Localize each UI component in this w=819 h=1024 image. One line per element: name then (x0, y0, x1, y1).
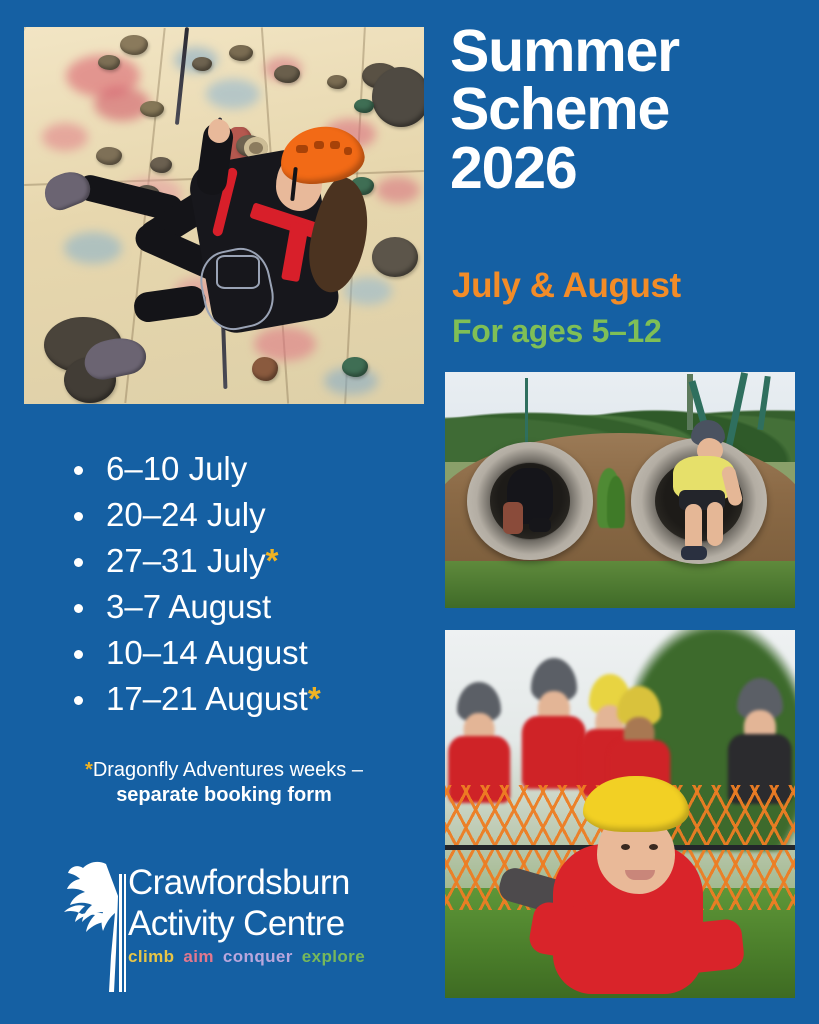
net-crawl-photo (445, 630, 795, 998)
date-label: 17–21 August (106, 680, 308, 717)
wall-paint-blot (64, 232, 122, 264)
helmet-vent (344, 147, 352, 155)
climbing-hold (354, 99, 374, 113)
child-leg (685, 504, 702, 552)
climbing-hold (327, 75, 347, 89)
shrub (607, 476, 625, 528)
background-child (737, 678, 783, 778)
child-eye (621, 844, 630, 850)
climbing-hold (274, 65, 300, 83)
helmet-vent (296, 145, 308, 153)
climbing-hold (252, 357, 278, 381)
page-title: Summer Scheme 2026 (450, 22, 800, 197)
logo-tagline: climbaimconquerexplore (128, 947, 392, 967)
climber-harness-buckle (216, 255, 260, 289)
list-item: 27–31 July* (62, 538, 422, 584)
climbing-hold (140, 101, 164, 117)
list-item: 10–14 August (62, 630, 422, 676)
date-label: 27–31 July (106, 542, 266, 579)
climbing-hold (120, 35, 148, 55)
climbing-hold (372, 67, 424, 127)
child-shoe (529, 518, 551, 532)
climbing-hold (150, 157, 172, 173)
footnote-asterisk: * (85, 759, 93, 781)
child-arm (661, 918, 746, 976)
child-leg (707, 502, 723, 546)
tagline-word-climb: climb (128, 947, 174, 966)
list-item: 20–24 July (62, 492, 422, 538)
footnote-line-1: Dragonfly Adventures weeks – (93, 759, 363, 781)
wall-paint-blot (344, 277, 392, 305)
climbing-hold (372, 237, 418, 277)
headline-line-3: 2026 (450, 139, 800, 197)
wall-paint-blot (376, 177, 420, 203)
tagline-word-explore: explore (302, 947, 365, 966)
list-item: 6–10 July (62, 446, 422, 492)
child-eye (649, 844, 658, 850)
background-child (531, 658, 577, 762)
background-child (617, 686, 661, 782)
fence-pole (525, 378, 528, 448)
dragonfly-asterisk: * (266, 542, 279, 579)
date-label: 6–10 July (106, 450, 247, 487)
logo-line-2: Activity Centre (128, 903, 392, 944)
wall-paint-blot (42, 123, 88, 151)
grass (445, 561, 795, 608)
background-child (457, 682, 501, 778)
logo-line-1: Crawfordsburn (128, 862, 392, 903)
child-shoe (681, 546, 707, 560)
week-dates-list: 6–10 July 20–24 July 27–31 July* 3–7 Aug… (62, 446, 422, 722)
date-label: 3–7 August (106, 588, 271, 625)
wall-paint-blot (254, 327, 316, 361)
climbing-wall-photo (24, 27, 424, 404)
helmet-vent (330, 141, 340, 149)
date-label: 10–14 August (106, 634, 308, 671)
tunnel-crawl-photo (445, 372, 795, 608)
headline-line-2: Scheme (450, 80, 800, 138)
climber-hand (208, 119, 230, 143)
windswept-tree-icon (62, 856, 128, 992)
date-label: 20–24 July (106, 496, 266, 533)
climbing-hold (98, 55, 120, 70)
child-jacket (522, 716, 586, 789)
logo-wordmark: Crawfordsburn Activity Centre climbaimco… (128, 862, 392, 967)
headline-line-1: Summer (450, 22, 800, 80)
dragonfly-asterisk: * (308, 680, 321, 717)
list-item: 17–21 August* (62, 676, 422, 722)
wall-paint-blot (206, 79, 260, 109)
child-arm (503, 502, 523, 534)
subtitle-months: July & August (452, 266, 681, 306)
climbing-hold (229, 45, 253, 61)
tagline-word-conquer: conquer (223, 947, 293, 966)
helmet-vent (314, 141, 324, 149)
list-item: 3–7 August (62, 584, 422, 630)
climbing-hold (342, 357, 368, 377)
summer-scheme-poster: Summer Scheme 2026 July & August For age… (0, 0, 819, 1024)
footnote-line-2: separate booking form (116, 784, 332, 806)
footnote: *Dragonfly Adventures weeks – separate b… (24, 758, 424, 808)
crawfordsburn-logo: Crawfordsburn Activity Centre climbaimco… (62, 856, 392, 992)
subtitle-age-range: For ages 5–12 (452, 313, 662, 350)
climbing-hold (192, 57, 212, 71)
tagline-word-aim: aim (183, 947, 214, 966)
climbing-hold (96, 147, 122, 165)
